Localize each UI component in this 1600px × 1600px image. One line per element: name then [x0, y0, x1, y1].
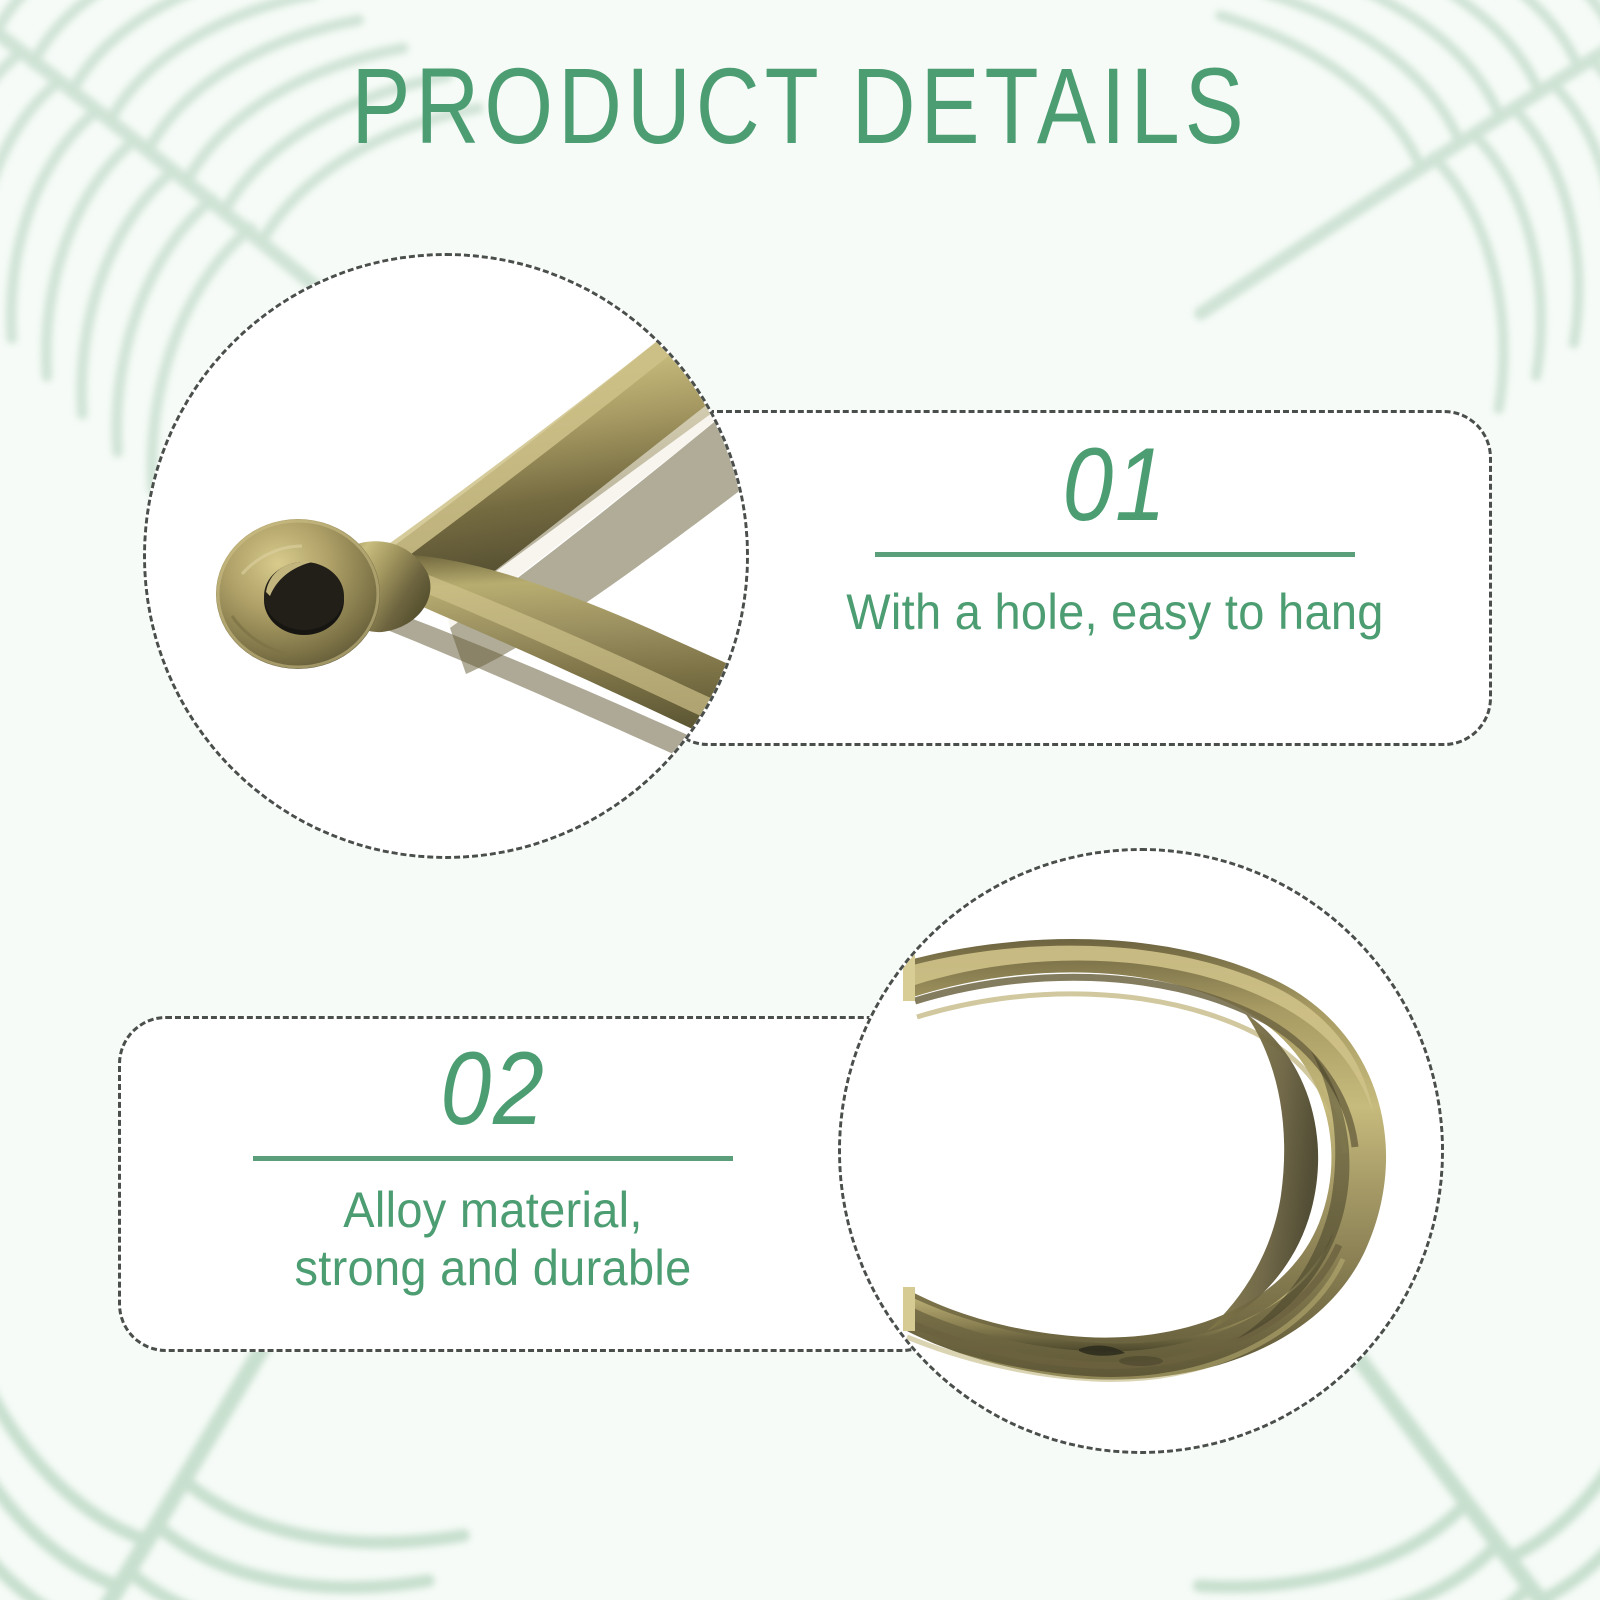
feature-card-01-content: 01 With a hole, easy to hang: [790, 432, 1440, 641]
feature-card-02-content: 02 Alloy material, strong and durable: [168, 1036, 818, 1297]
feature-separator-01: [875, 552, 1355, 557]
product-details-infographic: PRODUCT DETAILS: [0, 0, 1600, 1600]
feature-separator-02: [253, 1156, 733, 1161]
product-photo-circle-02: [838, 848, 1444, 1454]
page-title: PRODUCT DETAILS: [144, 52, 1456, 160]
product-photo-circle-01: [143, 253, 749, 859]
feature-number-01: 01: [829, 432, 1401, 538]
feature-number-02: 02: [207, 1036, 779, 1142]
bronze-v-ring-loop-photo: [146, 256, 746, 856]
feature-description-02: Alloy material, strong and durable: [188, 1181, 799, 1297]
bronze-ring-side-photo: [841, 851, 1441, 1451]
feature-description-01: With a hole, easy to hang: [810, 583, 1421, 641]
